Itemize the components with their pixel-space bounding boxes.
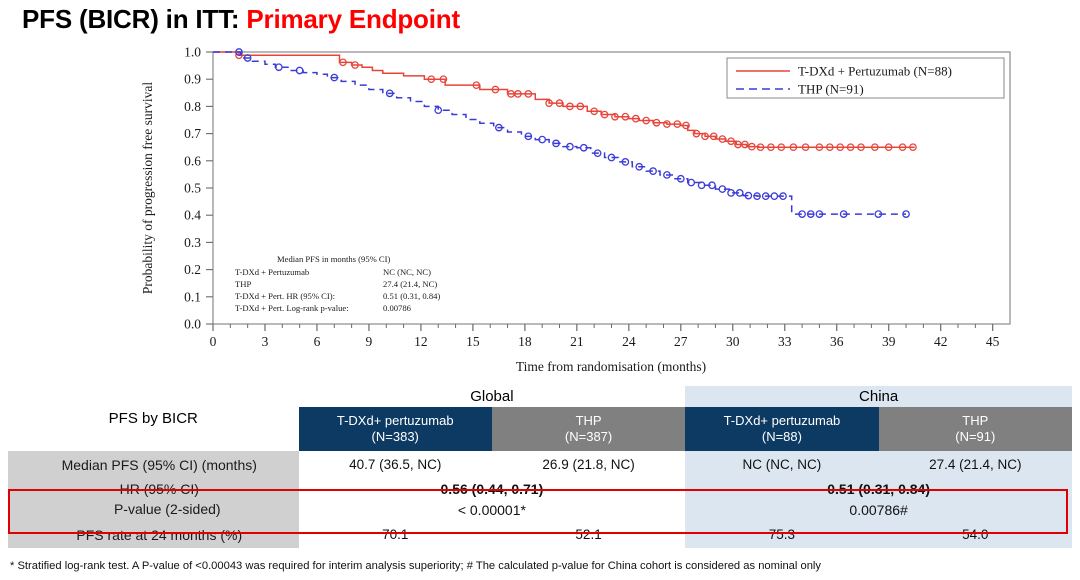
annotation-row-label: THP [235,279,251,289]
y-tick-label: 0.5 [184,181,201,196]
row-label: Median PFS (95% CI) (months) [8,451,299,478]
table-row: Median PFS (95% CI) (months)40.7 (36.5, … [8,451,1072,478]
column-arm-n: (N=91) [879,429,1072,445]
footnote: * Stratified log-rank test. A P-value of… [10,560,1070,572]
table-cell: 40.7 (36.5, NC) [299,451,492,478]
table-cell: 70.1 [299,521,492,548]
x-tick-label: 24 [622,334,636,349]
annotation-header: Median PFS in months (95% CI) [277,254,391,264]
x-tick-label: 36 [830,334,844,349]
x-tick-label: 30 [726,334,740,349]
x-tick-label: 15 [466,334,480,349]
table-cell: 75.3 [685,521,878,548]
table-cell: 54.0 [879,521,1072,548]
column-arm-name: THP [879,413,1072,429]
y-tick-label: 0.2 [184,262,201,277]
y-tick-label: 0.6 [184,153,201,168]
y-tick-label: 0.8 [184,99,201,114]
table-cell: NC (NC, NC) [685,451,878,478]
table-corner-label: PFS by BICR [8,386,299,451]
chart-legend: T-DXd + Pertuzumab (N=88)THP (N=91) [727,58,1004,98]
y-axis-label: Probability of progression free survival [140,82,155,294]
annotation-row-value: NC (NC, NC) [383,267,431,277]
x-tick-label: 42 [934,334,948,349]
x-tick-label: 39 [882,334,896,349]
x-tick-label: 33 [778,334,792,349]
x-tick-label: 18 [518,334,532,349]
page-title-main: PFS (BICR) in ITT: [22,4,246,34]
x-axis: 0369121518212427303336394245 [210,324,1000,349]
y-tick-label: 0.1 [184,289,201,304]
table-cell: 27.4 (21.4, NC) [879,451,1072,478]
column-arm-name: T-DXd+ pertuzumab [685,413,878,429]
annotation-row-label: T-DXd + Pert. Log-rank p-value: [235,303,349,313]
y-tick-label: 0.3 [184,235,201,250]
annotation-row-value: 0.00786 [383,303,412,313]
annotation-row-label: T-DXd + Pertuzumab [235,267,309,277]
annotation-row-value: 27.4 (21.4, NC) [383,279,437,289]
table-column-header-1: THP(N=387) [492,407,685,451]
chart-svg: 0.00.10.20.30.40.50.60.70.80.91.0 036912… [0,40,1080,390]
y-tick-label: 0.9 [184,72,201,87]
table-group-header-global: Global [299,386,686,407]
y-tick-label: 0.0 [184,317,201,332]
annotation-row-label: T-DXd + Pert. HR (95% CI): [235,291,335,301]
column-arm-name: T-DXd+ pertuzumab [299,413,492,429]
legend-label-0: T-DXd + Pertuzumab (N=88) [798,64,952,79]
page-title-accent: Primary Endpoint [246,4,460,34]
x-tick-label: 9 [366,334,373,349]
table-group-header-china: China [685,386,1072,407]
column-arm-n: (N=383) [299,429,492,445]
row-label: PFS rate at 24 months (%) [8,521,299,548]
x-tick-label: 0 [210,334,217,349]
table-column-header-2: T-DXd+ pertuzumab(N=88) [685,407,878,451]
table-group-header-row: PFS by BICRGlobalChina [8,386,1072,407]
x-axis-label: Time from randomisation (months) [516,359,706,374]
x-tick-label: 45 [986,334,1000,349]
column-arm-n: (N=387) [492,429,685,445]
x-tick-label: 3 [262,334,269,349]
hr-cell-china: 0.51 (0.31, 0.84)0.00786# [685,478,1072,521]
x-tick-label: 27 [674,334,688,349]
hr-value-china: 0.51 (0.31, 0.84) [685,479,1072,499]
annotation-row-value: 0.51 (0.31, 0.84) [383,291,440,301]
pvalue-global: < 0.00001* [299,500,686,520]
table-column-header-0: T-DXd+ pertuzumab(N=383) [299,407,492,451]
table-cell: 26.9 (21.8, NC) [492,451,685,478]
row-label-hr: HR (95% CI)P-value (2-sided) [8,478,299,521]
row-label-hr-line2: P-value (2-sided) [20,500,299,520]
pfs-results-table: PFS by BICRGlobalChinaT-DXd+ pertuzumab(… [8,386,1072,548]
table-row: HR (95% CI)P-value (2-sided)0.56 (0.44, … [8,478,1072,521]
legend-label-1: THP (N=91) [798,82,864,97]
y-tick-label: 1.0 [184,45,201,60]
x-tick-label: 12 [414,334,428,349]
x-tick-label: 21 [570,334,584,349]
row-label-hr-line1: HR (95% CI) [20,480,299,500]
x-tick-label: 6 [314,334,321,349]
hr-cell-global: 0.56 (0.44, 0.71)< 0.00001* [299,478,686,521]
pvalue-china: 0.00786# [685,500,1072,520]
table-row: PFS rate at 24 months (%)70.152.175.354.… [8,521,1072,548]
y-tick-label: 0.4 [184,208,201,223]
y-tick-label: 0.7 [184,126,201,141]
kaplan-meier-chart: 0.00.10.20.30.40.50.60.70.80.91.0 036912… [0,40,1080,390]
hr-value-global: 0.56 (0.44, 0.71) [299,479,686,499]
page-title: PFS (BICR) in ITT: Primary Endpoint [22,4,460,35]
table-column-header-3: THP(N=91) [879,407,1072,451]
column-arm-n: (N=88) [685,429,878,445]
table-cell: 52.1 [492,521,685,548]
column-arm-name: THP [492,413,685,429]
y-axis: 0.00.10.20.30.40.50.60.70.80.91.0 [184,45,213,332]
